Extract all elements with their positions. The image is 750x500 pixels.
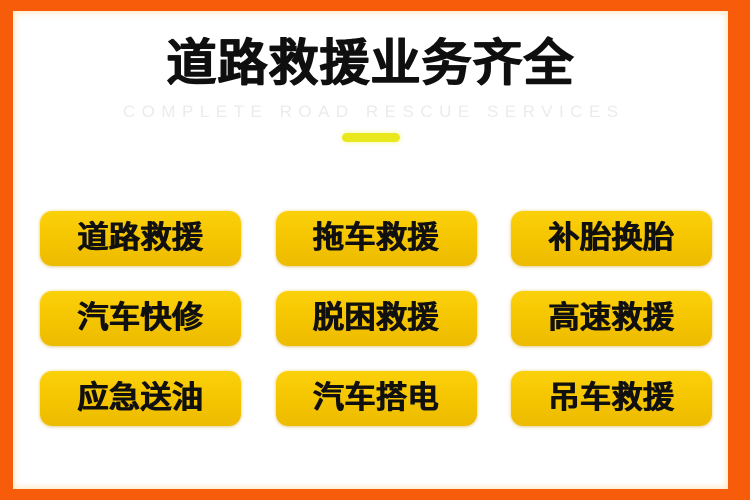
service-pill-label: 道路救援 (78, 223, 204, 254)
page-subtitle: COMPLETE ROAD RESCUE SERVICES (13, 102, 728, 122)
service-pill-2[interactable]: 拖车救援 (276, 211, 477, 266)
service-pill-label: 应急送油 (78, 383, 204, 414)
frame-band-top (0, 0, 750, 11)
frame-band-left (0, 0, 13, 500)
page-title: 道路救援业务齐全 (13, 38, 728, 88)
frame-band-bottom (0, 489, 750, 500)
service-pill-9[interactable]: 吊车救援 (511, 371, 712, 426)
service-pill-5[interactable]: 脱困救援 (276, 291, 477, 346)
service-grid: 道路救援 拖车救援 补胎换胎 汽车快修 脱困救援 高速救援 应急送油 汽车搭电 … (40, 211, 712, 426)
accent-bar (342, 133, 400, 142)
service-pill-4[interactable]: 汽车快修 (40, 291, 241, 346)
service-pill-8[interactable]: 汽车搭电 (276, 371, 477, 426)
frame-band-right (728, 0, 750, 500)
service-pill-7[interactable]: 应急送油 (40, 371, 241, 426)
service-pill-label: 补胎换胎 (549, 223, 675, 254)
header: 道路救援业务齐全 COMPLETE ROAD RESCUE SERVICES (13, 38, 728, 142)
service-pill-3[interactable]: 补胎换胎 (511, 211, 712, 266)
service-pill-label: 吊车救援 (549, 383, 675, 414)
service-pill-label: 汽车快修 (78, 303, 204, 334)
service-pill-label: 拖车救援 (313, 223, 439, 254)
service-pill-label: 高速救援 (549, 303, 675, 334)
service-pill-label: 汽车搭电 (313, 383, 439, 414)
service-pill-1[interactable]: 道路救援 (40, 211, 241, 266)
service-pill-label: 脱困救援 (313, 303, 439, 334)
poster-root: 道路救援业务齐全 COMPLETE ROAD RESCUE SERVICES 道… (0, 0, 750, 500)
service-pill-6[interactable]: 高速救援 (511, 291, 712, 346)
